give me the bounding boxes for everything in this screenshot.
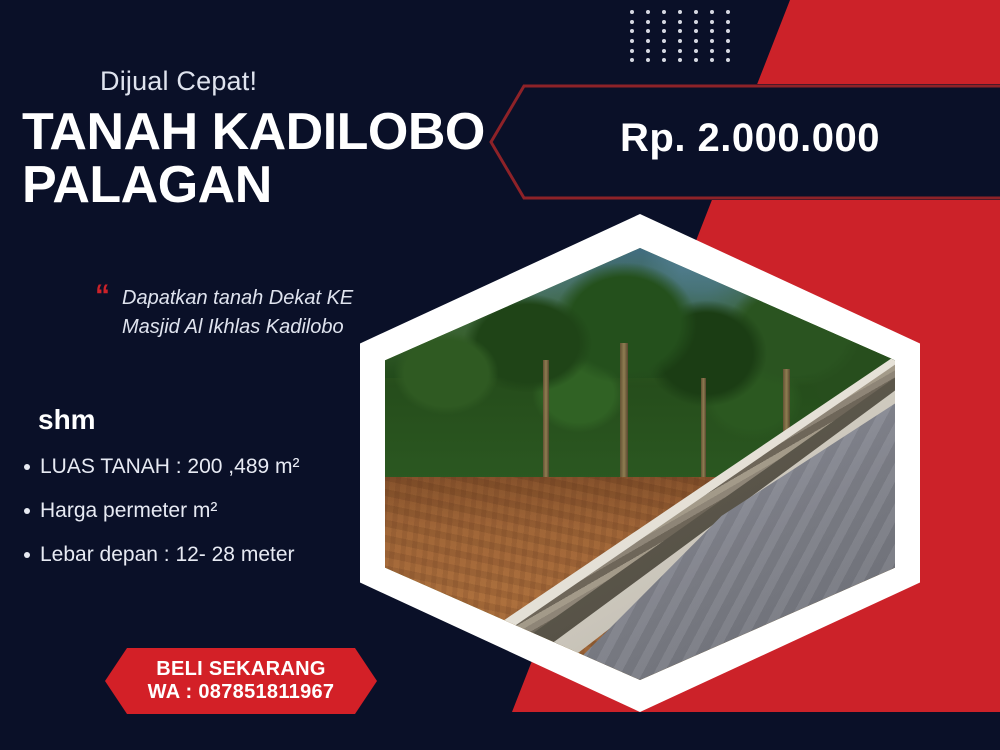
- buy-now-button[interactable]: BELI SEKARANG WA : 087851811967: [105, 648, 377, 714]
- dot-pattern-decoration: [630, 10, 742, 68]
- quote-mark-icon: “: [95, 284, 110, 342]
- page-title: TANAH KADILOBO PALAGAN: [22, 106, 502, 212]
- background-bottom-navy-strip: [0, 712, 1000, 750]
- quote-block: “ Dapatkan tanah Dekat KE Masjid Al Ikhl…: [95, 284, 395, 342]
- price-value: Rp. 2.000.000: [620, 116, 960, 161]
- property-ad-poster: Dijual Cepat! TANAH KADILOBO PALAGAN Rp.…: [0, 0, 1000, 750]
- title-line-2: PALAGAN: [22, 159, 502, 212]
- list-item: Lebar depan : 12- 28 meter: [40, 540, 380, 570]
- certificate-type-label: shm: [38, 404, 96, 436]
- list-item: Harga permeter m²: [40, 496, 380, 526]
- title-line-1: TANAH KADILOBO: [22, 106, 502, 159]
- cta-primary-label: BELI SEKARANG: [156, 658, 325, 681]
- cta-whatsapp-number: WA : 087851811967: [148, 681, 335, 704]
- list-item: LUAS TANAH : 200 ,489 m²: [40, 452, 380, 482]
- quote-text: Dapatkan tanah Dekat KE Masjid Al Ikhlas…: [122, 284, 395, 342]
- feature-list: LUAS TANAH : 200 ,489 m² Harga permeter …: [18, 452, 380, 583]
- ad-subtitle: Dijual Cepat!: [100, 66, 257, 97]
